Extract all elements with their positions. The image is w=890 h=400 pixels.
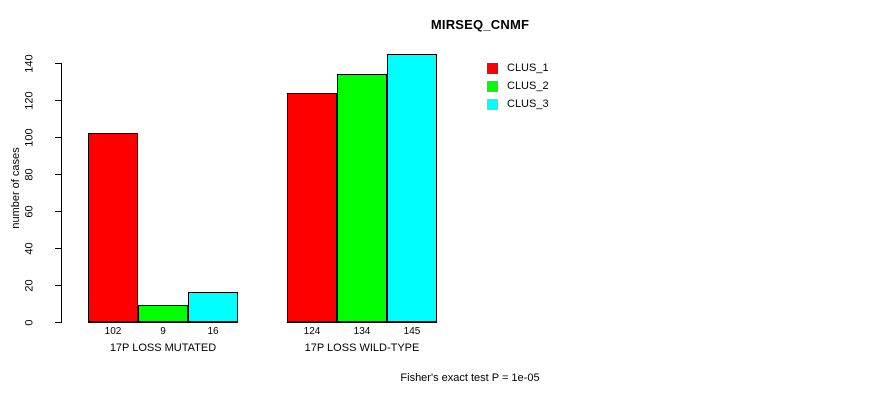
chart-title: MIRSEQ_CNMF xyxy=(0,17,890,32)
bar-value-label: 102 xyxy=(88,326,138,338)
legend-item-clus_1[interactable]: CLUS_1 xyxy=(487,61,607,77)
y-axis-tick-label: 0 xyxy=(25,303,36,343)
chart-legend: CLUS_1CLUS_2CLUS_3 xyxy=(487,61,607,115)
y-axis-tick-label: 100 xyxy=(25,118,36,158)
footer-annotation: Fisher's exact test P = 1e-05 xyxy=(0,372,890,384)
y-axis-tick-label: 40 xyxy=(25,229,36,269)
y-axis-tick-label: 140 xyxy=(25,44,36,84)
legend-item-clus_3[interactable]: CLUS_3 xyxy=(487,97,607,113)
chart-title-text: MIRSEQ_CNMF xyxy=(0,17,890,32)
bar-value-label: 16 xyxy=(188,326,238,338)
bar-value-label: 145 xyxy=(387,326,437,338)
y-axis-title: number of cases xyxy=(10,128,22,248)
x-axis-group-rule xyxy=(287,322,437,323)
bar-clus_1-group1[interactable] xyxy=(88,133,138,322)
legend-color-swatch xyxy=(487,63,498,74)
chart-canvas: MIRSEQ_CNMF number of cases 020406080100… xyxy=(0,0,890,400)
y-axis-tick xyxy=(55,248,61,249)
y-axis-tick-label: 60 xyxy=(25,192,36,232)
bar-clus_1-group2[interactable] xyxy=(287,93,337,322)
y-axis-tick xyxy=(55,137,61,138)
bar-value-label: 124 xyxy=(287,326,337,338)
y-axis-tick xyxy=(55,63,61,64)
x-axis-group-label: 17P LOSS WILD-TYPE xyxy=(247,341,477,355)
y-axis-tick-label: 120 xyxy=(25,81,36,121)
x-axis-group-label: 17P LOSS MUTATED xyxy=(48,341,278,355)
legend-item-clus_2[interactable]: CLUS_2 xyxy=(487,79,607,95)
bar-value-label: 134 xyxy=(337,326,387,338)
x-axis-group-rule xyxy=(88,322,238,323)
y-axis-tick-label: 80 xyxy=(25,155,36,195)
bar-clus_2-group1[interactable] xyxy=(138,305,188,322)
y-axis-tick xyxy=(55,211,61,212)
y-axis-tick xyxy=(55,322,61,323)
bar-value-label: 9 xyxy=(138,326,188,338)
legend-item-label: CLUS_3 xyxy=(507,97,549,112)
y-axis-tick xyxy=(55,100,61,101)
bar-clus_2-group2[interactable] xyxy=(337,74,387,322)
bar-clus_3-group2[interactable] xyxy=(387,54,437,322)
y-axis-line xyxy=(61,63,62,323)
legend-color-swatch xyxy=(487,99,498,110)
y-axis-tick-label: 20 xyxy=(25,266,36,306)
legend-item-label: CLUS_2 xyxy=(507,79,549,94)
footer-annotation-text: Fisher's exact test P = 1e-05 xyxy=(0,372,890,384)
legend-item-label: CLUS_1 xyxy=(507,61,549,76)
legend-color-swatch xyxy=(487,81,498,92)
bar-clus_3-group1[interactable] xyxy=(188,292,238,322)
y-axis-tick xyxy=(55,174,61,175)
y-axis-tick xyxy=(55,285,61,286)
